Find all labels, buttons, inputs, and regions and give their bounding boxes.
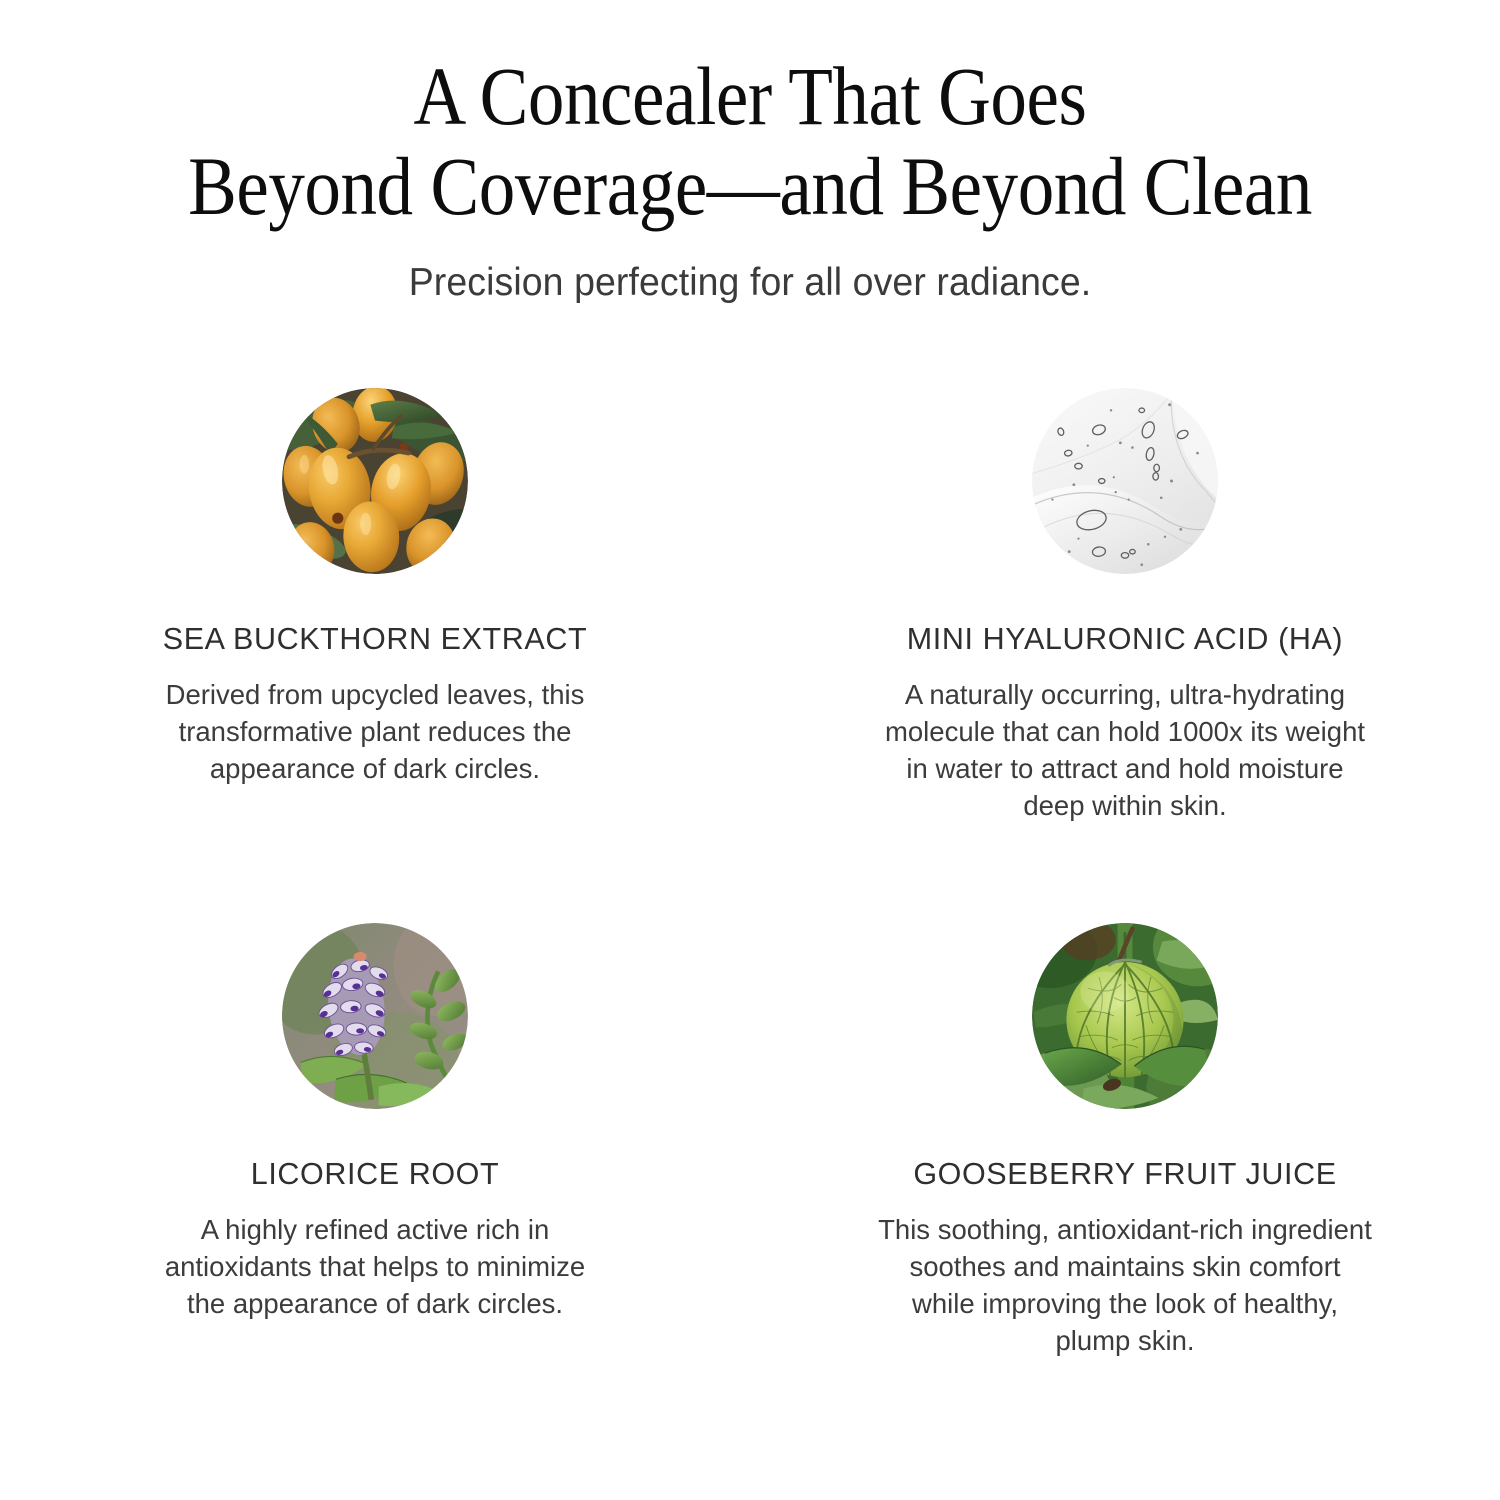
ingredient-card-gooseberry: GOOSEBERRY FRUIT JUICE This soothing, an… [750,905,1500,1440]
licorice-root-flower-photo [282,923,468,1109]
ingredient-card-sea-buckthorn: SEA BUCKTHORN EXTRACT Derived from upcyc… [0,370,750,905]
ingredient-description: A highly refined active rich in antioxid… [165,1212,585,1323]
ingredient-benefits-page: A Concealer That Goes Beyond Coverage—an… [0,0,1500,1500]
hyaluronic-acid-gel-photo [1032,388,1218,574]
ingredient-title: MINI HYALURONIC ACID (HA) [907,622,1343,657]
page-title-line-2: Beyond Coverage—and Beyond Clean [143,142,1357,232]
gooseberry-fruit-photo [1032,923,1218,1109]
page-title-line-1: A Concealer That Goes [143,52,1357,142]
ingredient-grid: SEA BUCKTHORN EXTRACT Derived from upcyc… [0,370,1500,1440]
page-subtitle: Precision perfecting for all over radian… [30,261,1470,305]
sea-buckthorn-berries-photo [282,388,468,574]
ingredient-description: A naturally occurring, ultra-hydrating m… [885,677,1365,824]
page-header: A Concealer That Goes Beyond Coverage—an… [0,0,1500,305]
page-title: A Concealer That Goes Beyond Coverage—an… [90,52,1410,231]
ingredient-title: SEA BUCKTHORN EXTRACT [163,622,587,657]
ingredient-title: LICORICE ROOT [251,1157,499,1192]
ingredient-description: Derived from upcycled leaves, this trans… [166,677,585,788]
ingredient-title: GOOSEBERRY FRUIT JUICE [913,1157,1336,1192]
ingredient-card-licorice-root: LICORICE ROOT A highly refined active ri… [0,905,750,1440]
ingredient-card-hyaluronic-acid: MINI HYALURONIC ACID (HA) A naturally oc… [750,370,1500,905]
ingredient-description: This soothing, antioxidant-rich ingredie… [878,1212,1372,1359]
